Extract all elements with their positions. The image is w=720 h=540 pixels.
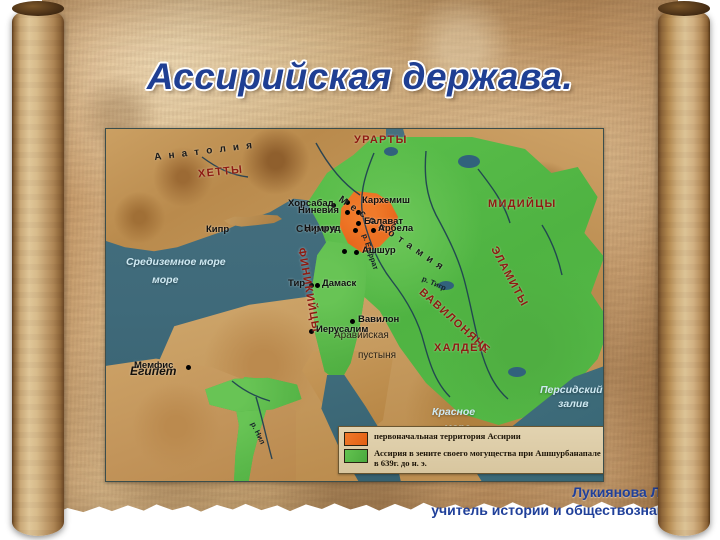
scroll-roll-right-texture (658, 8, 710, 536)
map-label-city-tir: Тир (288, 279, 305, 289)
map-label-finikiytsy: ФИНИКИЙЦЫ (295, 247, 321, 334)
map-label-city-damask: Дамаск (322, 279, 356, 289)
map-label-river-nile: р. Нил (249, 421, 266, 445)
map-label-city-memfis: Мемфис (134, 361, 173, 371)
scroll-cap-left (12, 1, 64, 16)
scroll-cap-right (658, 1, 710, 16)
legend-label-zenith: Ассирия в зените своего могущества при А… (374, 448, 602, 468)
map-label-haldei: ХАЛДЕИ (434, 343, 488, 354)
map-label-hetty: ХЕТТЫ (198, 165, 244, 181)
map-label-arabian-desert: Аравийская (334, 331, 389, 341)
scroll-roll-left (12, 8, 64, 536)
legend-label-core: первоначальная территория Ассирии (374, 431, 521, 441)
map-label-persian-gulf: Персидский залив (540, 385, 604, 396)
map-label-city-arbela: Арбела (378, 224, 413, 234)
map-label-mesopotamiya: М е с о п о т а м и я (336, 195, 445, 273)
map-label-mediterranean-sea: Средиземное море (126, 257, 226, 268)
map-label-city-karkemish: Кархемиш (362, 196, 410, 206)
map-label-vavilonyane: ВАВИЛОНЯНЕ (417, 287, 492, 356)
legend-item-zenith: Ассирия в зените своего могущества при А… (344, 448, 602, 468)
map-label-city-ierusalim: Иерусалим (316, 325, 368, 335)
map-label-city-ninevia: Ниневия (298, 206, 339, 216)
map-label-mediterranean-sea-2: море (152, 275, 178, 286)
slide-root: Ассирийская держава. (0, 0, 720, 540)
map-label-persian-gulf-2: залив (558, 399, 589, 410)
legend-swatch-green (344, 449, 368, 463)
map-label-anatolia: А н а т о л и я (154, 141, 255, 163)
scroll-roll-left-texture (12, 8, 64, 536)
credit-line-1: Лукиянова Л.Л., (431, 484, 682, 502)
legend-item-core: первоначальная территория Ассирии (344, 431, 602, 446)
map-label-city-vavilon: Вавилон (358, 315, 399, 325)
map-label-urarty: УРАРТЫ (354, 135, 408, 146)
map-label-city-ashshur: Ашшур (362, 246, 396, 256)
map-label-arabian-desert-2: пустыня (358, 351, 396, 361)
legend-swatch-orange (344, 432, 368, 446)
map-label-elamity: ЭЛАМИТЫ (488, 245, 529, 309)
map-label-river-tigris: р. Тигр (421, 275, 447, 292)
page-title: Ассирийская держава. (80, 56, 640, 98)
map-label-midiytsy: МИДИЙЦЫ (488, 199, 557, 210)
map-label-egipet: Египет (130, 365, 176, 377)
credit-line-2: учитель истории и обществознания (431, 502, 682, 520)
author-credit: Лукиянова Л.Л., учитель истории и общест… (431, 484, 682, 519)
map-label-island-kipr: Кипр (206, 225, 229, 235)
scroll-roll-right (658, 8, 710, 536)
map-label-city-horsabad: Хорсабад (288, 199, 334, 209)
map-legend: первоначальная территория Ассирии Ассири… (338, 426, 604, 474)
map-label-city-balavat: Балават (364, 217, 403, 227)
map-label-siriya: Сирия (296, 225, 338, 235)
map-label-red-sea: Красное (432, 407, 475, 418)
historical-map[interactable]: А н а т о л и я ХЕТТЫ УРАРТЫ МИДИЙЦЫ ЭЛА… (105, 128, 604, 482)
map-label-city-nimrud: Нимруд (304, 224, 340, 234)
map-label-river-euphrates: р. Евфрат (361, 233, 380, 271)
